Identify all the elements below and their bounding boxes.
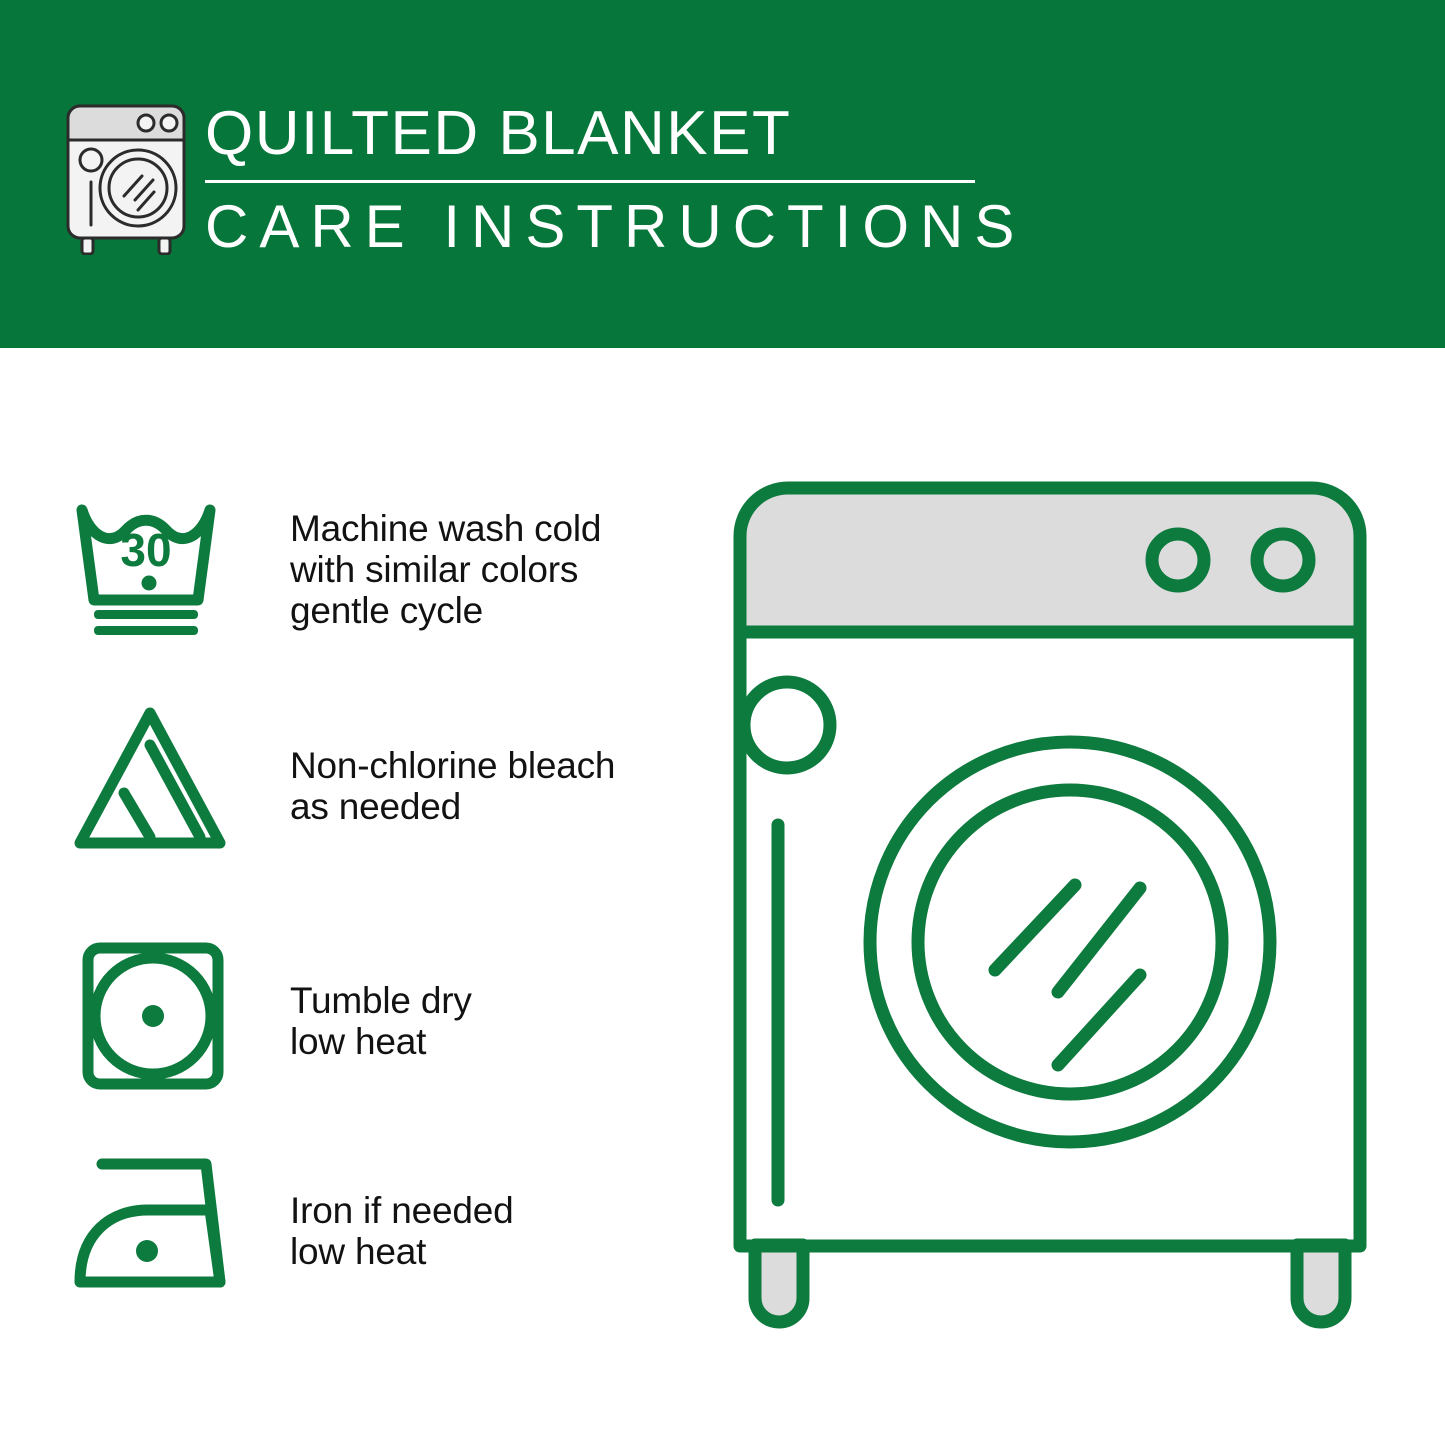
list-item: 30 Machine wash cold with similar colors… [0,488,700,688]
page-subtitle: CARE INSTRUCTIONS [205,192,995,262]
drum-shine-line-3 [1058,975,1140,1065]
care-text-line: low heat [290,1231,690,1272]
care-text-line: low heat [290,1021,690,1062]
list-item-label: Tumble dry low heat [290,980,690,1062]
list-item: Tumble dry low heat [0,938,700,1138]
front-load-washing-machine-illustration [700,440,1400,1390]
care-text-line: Non-chlorine bleach [290,745,690,786]
page-title: QUILTED BLANKET [205,98,995,170]
drum-shine-line-1 [995,885,1075,970]
care-text-line: Machine wash cold [290,508,690,549]
wash-tub-30-icon: 30 [70,488,240,648]
header-banner: QUILTED BLANKET CARE INSTRUCTIONS [0,0,1445,348]
washing-machine-icon [62,100,190,255]
list-item-label: Non-chlorine bleach as needed [290,745,690,827]
machine-leg-right [1297,1245,1345,1322]
care-text-line: Tumble dry [290,980,690,1021]
care-text-line: Iron if needed [290,1190,690,1231]
iron-low-heat-icon [70,1148,240,1308]
care-text-line: with similar colors [290,549,690,590]
list-item: Non-chlorine bleach as needed [0,703,700,903]
title-divider [205,180,975,183]
care-text-line: gentle cycle [290,590,690,631]
drum-outer-ring [870,742,1270,1142]
wash-temperature-value: 30 [120,524,171,576]
non-chlorine-bleach-triangle-icon [70,703,240,863]
care-text-line: as needed [290,786,690,827]
machine-leg-left [755,1245,803,1322]
list-item-label: Iron if needed low heat [290,1190,690,1272]
list-item: Iron if needed low heat [0,1148,700,1348]
care-instruction-list: 30 Machine wash cold with similar colors… [0,348,700,1445]
control-panel-fill [740,488,1360,632]
care-instructions-infographic: QUILTED BLANKET CARE INSTRUCTIONS 30 [0,0,1445,1445]
list-item-label: Machine wash cold with similar colors ge… [290,508,690,631]
indicator-circle [744,682,830,768]
header-title-block: QUILTED BLANKET CARE INSTRUCTIONS [205,98,995,262]
drum-shine-line-2 [1058,888,1140,992]
tumble-dry-low-icon [70,938,240,1098]
